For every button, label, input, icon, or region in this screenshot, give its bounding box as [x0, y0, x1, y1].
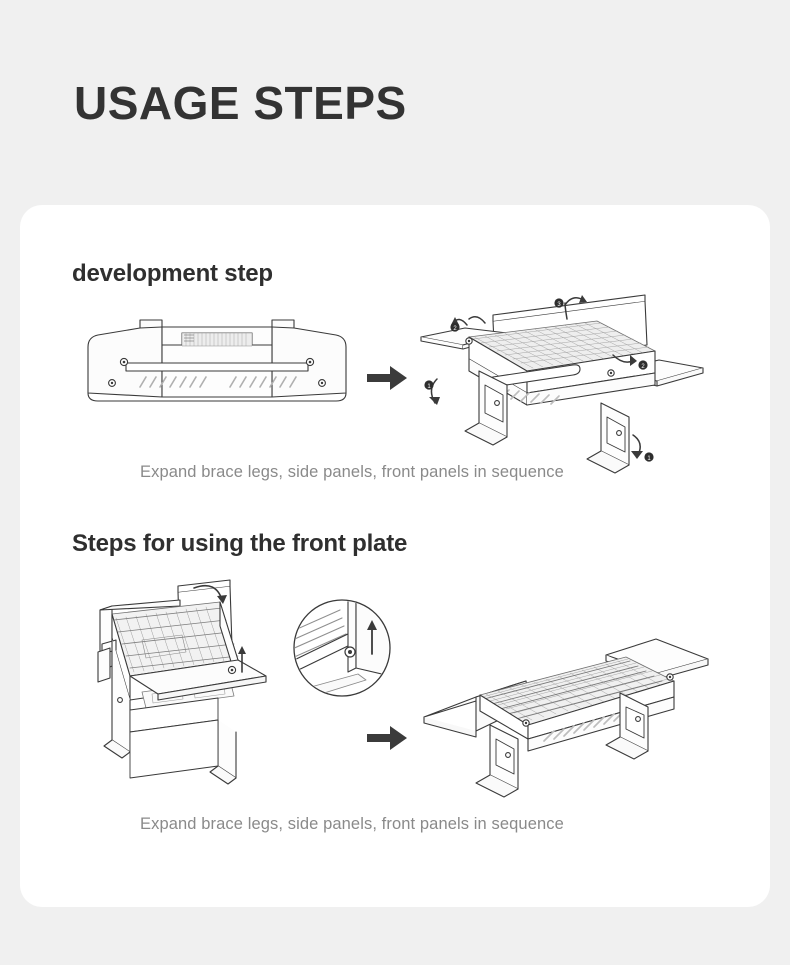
- section-caption-development-step: Expand brace legs, side panels, front pa…: [140, 463, 564, 482]
- section-heading-development-step: development step: [72, 260, 273, 288]
- section-heading-front-plate: Steps for using the front plate: [72, 530, 407, 558]
- section-caption-front-plate: Expand brace legs, side panels, front pa…: [140, 815, 564, 834]
- illustration-assembled-grill: [420, 615, 710, 800]
- usage-steps-page: USAGE STEPS development step: [0, 0, 790, 965]
- page-title: USAGE STEPS: [74, 80, 407, 126]
- content-card: development step: [20, 205, 770, 907]
- illustration-folded-grill: [82, 315, 352, 415]
- right-arrow-icon: [365, 363, 409, 393]
- illustration-front-plate-grill: [90, 580, 400, 785]
- illustration-unfolded-grill: 3 2 2 1 1: [415, 285, 715, 460]
- right-arrow-icon: [365, 723, 409, 753]
